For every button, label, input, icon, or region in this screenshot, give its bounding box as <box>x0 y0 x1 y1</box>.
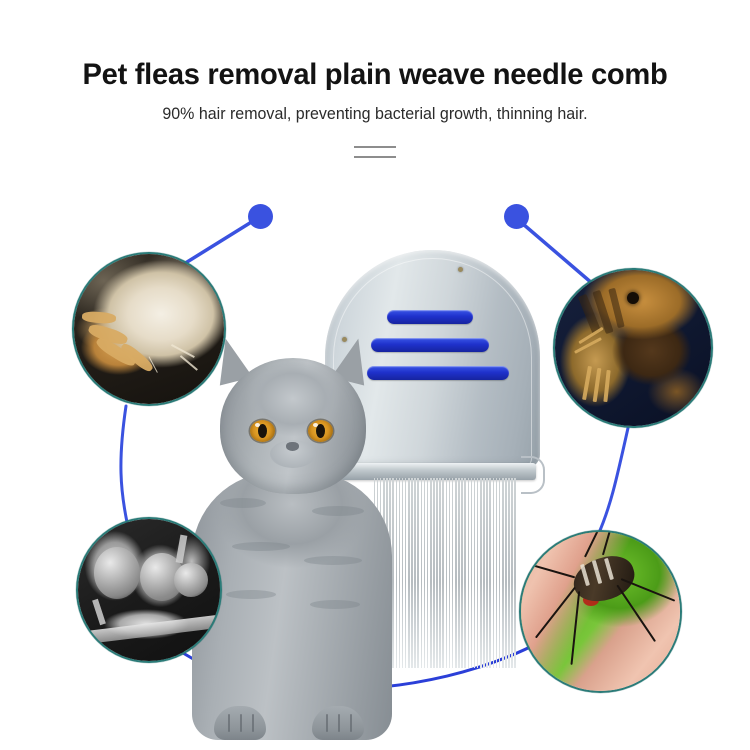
page-title: Pet fleas removal plain weave needle com… <box>11 0 739 92</box>
comb-tooth <box>486 478 488 668</box>
comb-tooth <box>471 478 473 668</box>
comb-tooth <box>511 478 513 668</box>
comb-tooth <box>408 478 410 668</box>
mosquito-biting-skin-photo <box>521 532 680 691</box>
comb-tooth <box>430 478 432 668</box>
callout-image-sem-louse <box>76 517 222 663</box>
comb-tooth <box>439 478 441 668</box>
divider <box>354 146 396 158</box>
comb-tooth <box>442 478 444 668</box>
cat-paw-right <box>312 706 364 740</box>
product-banner: Pet fleas removal plain weave needle com… <box>0 0 750 750</box>
comb-tooth <box>424 478 426 668</box>
comb-tooth <box>458 478 460 668</box>
comb-tooth <box>452 478 454 668</box>
comb-tooth <box>468 478 470 668</box>
comb-tooth <box>508 478 510 668</box>
divider-line-bottom <box>354 156 396 158</box>
cat-paw-left <box>214 706 266 740</box>
comb-tooth <box>464 478 466 668</box>
comb-tooth <box>483 478 485 668</box>
page-subtitle: 90% hair removal, preventing bacterial g… <box>11 92 739 124</box>
electron-microscope-louse-photo <box>78 519 220 661</box>
callout-dot-top-right <box>504 204 529 229</box>
comb-tooth <box>514 478 516 668</box>
comb-tooth <box>446 478 448 668</box>
comb-tooth <box>502 478 504 668</box>
comb-tooth <box>489 478 491 668</box>
callout-image-flea <box>553 268 713 428</box>
banner-header: Pet fleas removal plain weave needle com… <box>0 0 750 158</box>
flea-macro-photo <box>555 270 711 426</box>
comb-rivet-top <box>458 267 463 272</box>
comb-handle <box>521 456 545 494</box>
callout-image-mosquito <box>519 530 682 693</box>
comb-tooth <box>480 478 482 668</box>
comb-tooth <box>417 478 419 668</box>
flea-eye <box>627 292 639 304</box>
comb-tooth <box>455 478 457 668</box>
callout-image-dust-mite <box>72 252 226 406</box>
comb-tooth <box>414 478 416 668</box>
divider-line-top <box>354 146 396 148</box>
comb-tooth <box>474 478 476 668</box>
comb-tooth <box>433 478 435 668</box>
cat-head <box>220 358 366 494</box>
cat-body <box>192 472 392 740</box>
comb-tooth <box>449 478 451 668</box>
product-stage <box>0 190 750 750</box>
comb-tooth <box>499 478 501 668</box>
comb-tooth <box>477 478 479 668</box>
comb-tooth <box>436 478 438 668</box>
comb-tooth <box>427 478 429 668</box>
dust-mite-photo <box>74 254 224 404</box>
callout-dot-top-left <box>248 204 273 229</box>
comb-tooth <box>461 478 463 668</box>
comb-tooth <box>411 478 413 668</box>
cat-nose <box>286 442 299 451</box>
comb-tooth <box>505 478 507 668</box>
comb-tooth <box>496 478 498 668</box>
comb-tooth <box>493 478 495 668</box>
cat-eye-right <box>308 420 333 442</box>
comb-tooth <box>421 478 423 668</box>
cat-eye-left <box>250 420 275 442</box>
